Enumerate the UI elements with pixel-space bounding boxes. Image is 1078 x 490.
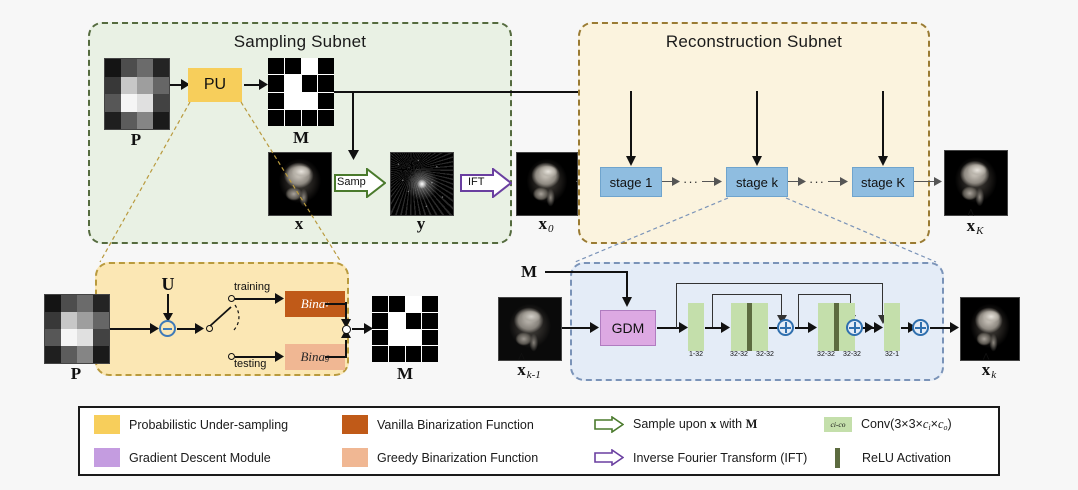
merge-node [342, 325, 351, 334]
mask-cell [285, 75, 301, 91]
pu-block[interactable]: PU [188, 68, 242, 102]
skip2-v-start [712, 294, 713, 328]
p-map-cell [121, 94, 137, 112]
conv-block-4 [818, 303, 834, 351]
sampling-mask-m-detail [372, 296, 438, 362]
stage-ellipsis-1: ··· [683, 174, 699, 189]
mask-cell [285, 110, 301, 126]
skip3-v-start [798, 294, 799, 328]
p-map-cell [137, 112, 153, 130]
legend-item-sample: Sample upon x with M [594, 416, 824, 433]
sampling-mask-m-detail-label: M [372, 364, 438, 384]
conv-block-6-label: 32-1 [876, 351, 908, 358]
legend-label-ift: Inverse Fourier Transform (IFT) [633, 451, 807, 465]
conv-block-5-label: 32-32 [835, 351, 869, 358]
p-map-cell [45, 295, 61, 312]
sampling-mask-m-label: M [268, 128, 334, 148]
p-map-cell [153, 59, 169, 77]
probability-map-p-label: P [104, 130, 168, 150]
line-bus-to-stagek [756, 91, 758, 159]
p-map-cell [93, 295, 109, 312]
legend-item-ift: Inverse Fourier Transform (IFT) [594, 449, 824, 466]
stage-box-K[interactable]: stage K [852, 167, 914, 197]
p-map-cell [137, 77, 153, 95]
switch-blade-icon[interactable] [205, 296, 249, 336]
arrowhead-plus1-to-conv4 [808, 322, 817, 333]
p-map-cell [105, 59, 121, 77]
mask-cell [389, 346, 405, 362]
arrowhead-dots1-to-stagek [714, 177, 722, 186]
skip2-h [712, 294, 782, 295]
legend-swatch-pu [94, 415, 120, 434]
kspace-image-y-label: y [390, 214, 452, 234]
p-map-cell [121, 77, 137, 95]
residual-add-2 [846, 319, 863, 336]
arrowhead-bus-to-stage1 [626, 156, 636, 166]
arrowhead-plus2-to-conv6 [874, 322, 883, 333]
arrowhead-plus3-to-output [950, 322, 959, 333]
line-binav-right [325, 303, 347, 305]
mask-cell [422, 313, 438, 329]
arrowhead-minus-to-switch [195, 323, 204, 334]
mask-cell [268, 58, 284, 74]
arrowhead-pu-to-m [259, 79, 268, 90]
legend-row-1: Probabilistic Under-sampling Vanilla Bin… [80, 408, 998, 441]
p-map-cell [105, 112, 121, 130]
mask-cell [302, 58, 318, 74]
legend-label-vanilla: Vanilla Binarization Function [377, 418, 534, 432]
legend-item-relu: ReLU Activation [824, 448, 951, 468]
arrowhead-p-to-minus [150, 323, 159, 334]
skip1-v-start [676, 283, 677, 328]
mask-cell [422, 330, 438, 346]
uniform-noise-u-label: U [150, 274, 186, 295]
mask-cell [302, 110, 318, 126]
gdm-block[interactable]: GDM [600, 310, 656, 346]
kspace-image-y [390, 152, 454, 216]
mask-cell [318, 110, 334, 126]
mask-cell [268, 110, 284, 126]
legend-swatch-gdm [94, 448, 120, 467]
arrowhead-bus-to-stageK [878, 156, 888, 166]
p-map-cell [93, 346, 109, 363]
legend-label-greedy: Greedy Binarization Function [377, 451, 538, 465]
conv-block-3-label: 32-32 [748, 351, 782, 358]
legend-item-greedy: Greedy Binarization Function [342, 448, 594, 467]
line-bus-to-samp [352, 91, 354, 153]
probability-map-p-detail-label: P [44, 364, 108, 384]
mask-cell [389, 313, 405, 329]
line-bus-to-stage1 [630, 91, 632, 159]
mask-cell [318, 93, 334, 109]
training-branch-node[interactable] [228, 295, 235, 302]
mask-cell [268, 93, 284, 109]
p-map-cell [45, 312, 61, 329]
p-map-cell [61, 295, 77, 312]
p-map-cell [93, 329, 109, 346]
residual-add-1 [777, 319, 794, 336]
mask-cell [406, 313, 422, 329]
mask-cell [318, 58, 334, 74]
arrowhead-stagek-to-dots2 [798, 177, 806, 186]
p-map-cell [137, 59, 153, 77]
stage-box-1[interactable]: stage 1 [600, 167, 662, 197]
line-training-branch [235, 298, 279, 300]
zero-filled-image-x0-label: x0 [516, 214, 576, 235]
probability-map-p-detail [44, 294, 110, 364]
conv-block-3 [752, 303, 768, 351]
legend-swatch-vanilla [342, 415, 368, 434]
legend-item-pu: Probabilistic Under-sampling [80, 415, 342, 434]
p-map-cell [121, 112, 137, 130]
legend-label-sample: Sample upon x with M [633, 417, 757, 432]
conv-block-6 [884, 303, 900, 351]
skip1-h [676, 283, 883, 284]
p-map-cell [61, 312, 77, 329]
legend-swatch-greedy [342, 448, 368, 467]
legend-swatch-conv: ci-co [824, 417, 852, 432]
p-map-cell [45, 346, 61, 363]
p-map-cell [121, 59, 137, 77]
skip3-h [798, 294, 851, 295]
sampling-subnet-title: Sampling Subnet [90, 32, 510, 52]
arrowhead-training-branch [275, 293, 284, 304]
legend-label-relu: ReLU Activation [862, 451, 951, 465]
p-map-cell [105, 77, 121, 95]
line-m-to-gdm-v [626, 271, 628, 299]
mask-cell [372, 346, 388, 362]
legend-samp-arrow-icon [594, 416, 624, 433]
stage-box-k[interactable]: stage k [726, 167, 788, 197]
mask-cell [422, 296, 438, 312]
sampling-mask-m [268, 58, 334, 126]
legend-item-conv: ci-co Conv(3×3×ci×co) [824, 417, 952, 432]
mask-cell [389, 330, 405, 346]
conv-block-2 [731, 303, 747, 351]
stage-output-image-label: xk [960, 360, 1018, 381]
arrowhead-input-to-gdm [590, 322, 599, 333]
ift-arrow-label: IFT [467, 176, 486, 188]
p-map-cell [77, 295, 93, 312]
line-binag-up [345, 340, 347, 357]
legend-label-conv: Conv(3×3×ci×co) [861, 417, 952, 432]
figure-canvas: Sampling Subnet P PU M x Samp y IFT x0 [0, 0, 1078, 490]
mask-cell [268, 75, 284, 91]
p-map-cell [77, 312, 93, 329]
stage-detail-m-label: M [516, 262, 542, 282]
testing-label: testing [234, 358, 266, 370]
mask-cell [422, 346, 438, 362]
p-map-cell [93, 312, 109, 329]
stage-ellipsis-2: ··· [809, 174, 825, 189]
arrowhead-m-to-gdm [622, 297, 632, 307]
line-binag-right [325, 356, 347, 358]
input-image-x-label: x [268, 214, 330, 234]
arrowhead-bus-to-samp [348, 150, 359, 160]
arrowhead-stage1-to-dots1 [672, 177, 680, 186]
mask-cell [372, 313, 388, 329]
arrowhead-gdm-to-conv1 [679, 322, 688, 333]
line-bus-to-stageK [882, 91, 884, 159]
stage-input-image-label: xk-1 [498, 360, 560, 381]
conv-block-1 [688, 303, 704, 351]
arrowhead-binag-merge [341, 333, 351, 342]
stage-input-image [498, 297, 562, 361]
mask-cell [406, 296, 422, 312]
output-image-xhat-K-label: xK [944, 216, 1006, 237]
p-map-cell [137, 94, 153, 112]
p-map-cell [153, 77, 169, 95]
mask-cell [372, 330, 388, 346]
mask-cell [406, 330, 422, 346]
p-map-cell [45, 329, 61, 346]
mask-cell [285, 93, 301, 109]
mask-cell [318, 75, 334, 91]
p-map-cell [77, 346, 93, 363]
mask-cell [406, 346, 422, 362]
legend-label-gdm: Gradient Descent Module [129, 451, 271, 465]
samp-arrow-label: Samp [336, 176, 367, 188]
output-image-xhat-K [944, 150, 1008, 216]
legend-label-pu: Probabilistic Under-sampling [129, 418, 288, 432]
legend-panel: Probabilistic Under-sampling Vanilla Bin… [78, 406, 1000, 476]
mask-cell [285, 58, 301, 74]
legend-ift-arrow-icon [594, 449, 624, 466]
p-map-cell [153, 112, 169, 130]
p-map-cell [153, 94, 169, 112]
p-map-cell [105, 94, 121, 112]
arrowhead-bus-to-stagek [752, 156, 762, 166]
arrowhead-conv1-to-conv2 [721, 322, 730, 333]
line-p-to-minus [110, 328, 154, 330]
residual-add-3 [912, 319, 929, 336]
arrowhead-dots2-to-stageK [840, 177, 848, 186]
line-m-to-gdm-h [545, 271, 627, 273]
arrowhead-stageK-to-output [934, 177, 942, 186]
input-image-x [268, 152, 332, 216]
legend-row-2: Gradient Descent Module Greedy Binarizat… [80, 441, 998, 474]
mask-cell [372, 296, 388, 312]
conv-block-1-label: 1-32 [678, 351, 714, 358]
zero-filled-image-x0 [516, 152, 578, 216]
legend-item-gdm: Gradient Descent Module [80, 448, 342, 467]
subtract-operator [159, 320, 176, 337]
probability-map-p [104, 58, 170, 130]
reconstruction-subnet-title: Reconstruction Subnet [580, 32, 928, 52]
legend-swatch-relu [835, 448, 840, 468]
training-label: training [234, 281, 270, 293]
legend-item-vanilla: Vanilla Binarization Function [342, 415, 594, 434]
p-map-cell [61, 329, 77, 346]
mask-cell [302, 93, 318, 109]
mask-cell [389, 296, 405, 312]
arrowhead-testing-branch [275, 351, 284, 362]
p-map-cell [61, 346, 77, 363]
mask-cell [302, 75, 318, 91]
p-map-cell [77, 329, 93, 346]
